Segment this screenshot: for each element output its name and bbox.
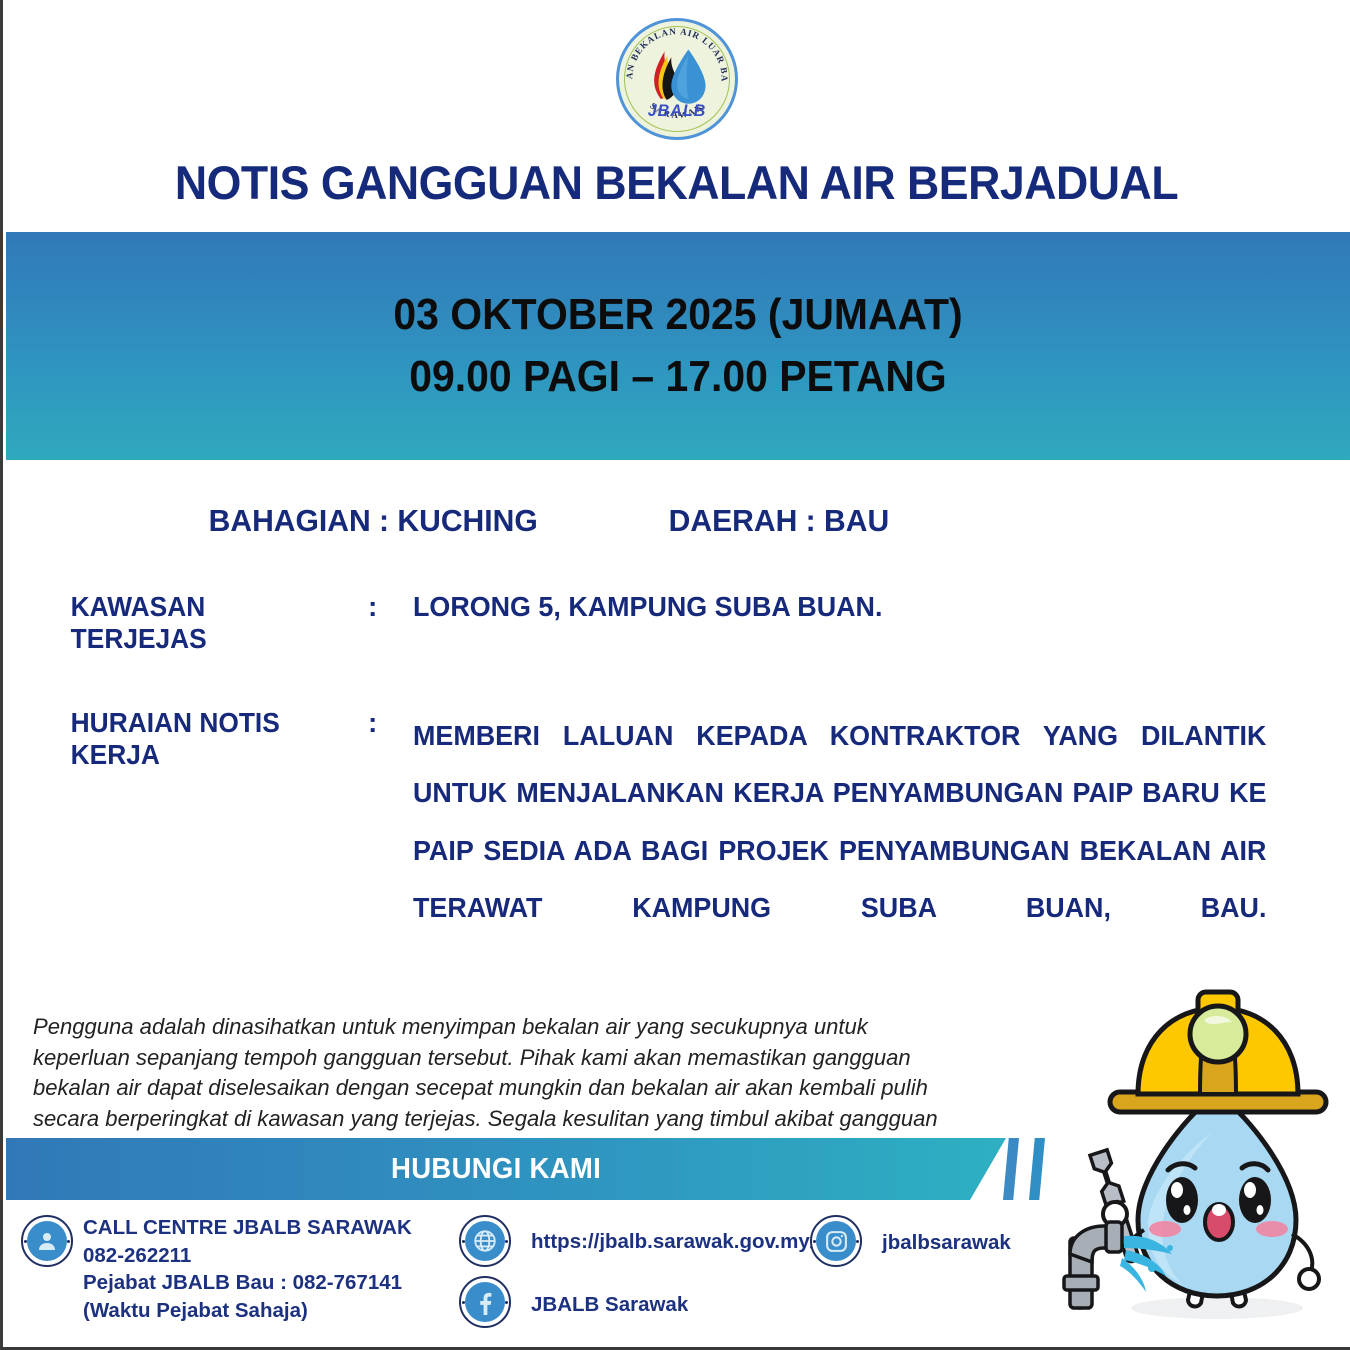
region-row: BAHAGIAN : KUCHING DAERAH : BAU [3,503,1310,539]
kawasan-terjejas-label: KAWASAN TERJEJAS [3,591,346,655]
notice-date: 03 OKTOBER 2025 (JUMAAT) [393,284,962,346]
person-icon-disc [27,1221,67,1261]
kawasan-terjejas-value: LORONG 5, KAMPUNG SUBA BUAN. [413,591,1313,623]
daerah-label: DAERAH : BAU [669,503,890,539]
banner-slash-accent-1 [1003,1138,1019,1200]
notice-time: 09.00 PAGI – 17.00 PETANG [409,346,947,408]
date-time-banner: 03 OKTOBER 2025 (JUMAAT) 09.00 PAGI – 17… [6,232,1350,460]
huraian-notis-kerja-colon: : [368,707,413,739]
svg-text:JBALB: JBALB [647,102,706,120]
jbalb-logo: JABATAN BEKALAN AIR LUAR BANDAR SARAWAK … [616,18,738,140]
notice-poster: JABATAN BEKALAN AIR LUAR BANDAR SARAWAK … [0,0,1350,1350]
facebook-icon[interactable] [459,1276,511,1328]
field-kawasan-terjejas: KAWASAN TERJEJAS : LORONG 5, KAMPUNG SUB… [3,591,1350,655]
contact-banner: HUBUNGI KAMI [6,1138,1006,1200]
logo-artwork: JABATAN BEKALAN AIR LUAR BANDAR SARAWAK … [619,21,735,137]
instagram-text[interactable]: jbalbsarawak [882,1229,1011,1257]
instagram-icon[interactable] [810,1215,862,1267]
logo-container: JABATAN BEKALAN AIR LUAR BANDAR SARAWAK … [3,18,1350,140]
website-text[interactable]: https://jbalb.sarawak.gov.my/ [531,1228,815,1256]
huraian-notis-kerja-label: HURAIAN NOTIS KERJA [3,707,346,771]
banner-slash-accent-2 [1029,1138,1045,1200]
field-huraian-notis-kerja: HURAIAN NOTIS KERJA : MEMBERI LALUAN KEP… [3,707,1350,994]
mascot-artwork [1052,982,1342,1337]
person-icon [21,1215,73,1267]
bahagian-label: BAHAGIAN : KUCHING [209,503,538,539]
instagram-icon-disc [816,1221,856,1261]
call-centre-text: CALL CENTRE JBALB SARAWAK 082-262211 Pej… [83,1214,412,1325]
huraian-notis-kerja-value: MEMBERI LALUAN KEPADA KONTRAKTOR YANG DI… [413,707,1313,994]
facebook-icon-disc [465,1282,505,1322]
region-spacer [538,503,669,539]
page-title: NOTIS GANGGUAN BEKALAN AIR BERJADUAL [37,155,1317,210]
facebook-text[interactable]: JBALB Sarawak [531,1291,688,1319]
contact-banner-title: HUBUNGI KAMI [391,1153,601,1186]
details-section: BAHAGIAN : KUCHING DAERAH : BAU KAWASAN … [3,460,1350,994]
kawasan-terjejas-colon: : [368,591,413,623]
globe-icon-disc [465,1221,505,1261]
water-droplet-mascot [1052,982,1342,1337]
globe-icon[interactable] [459,1215,511,1267]
